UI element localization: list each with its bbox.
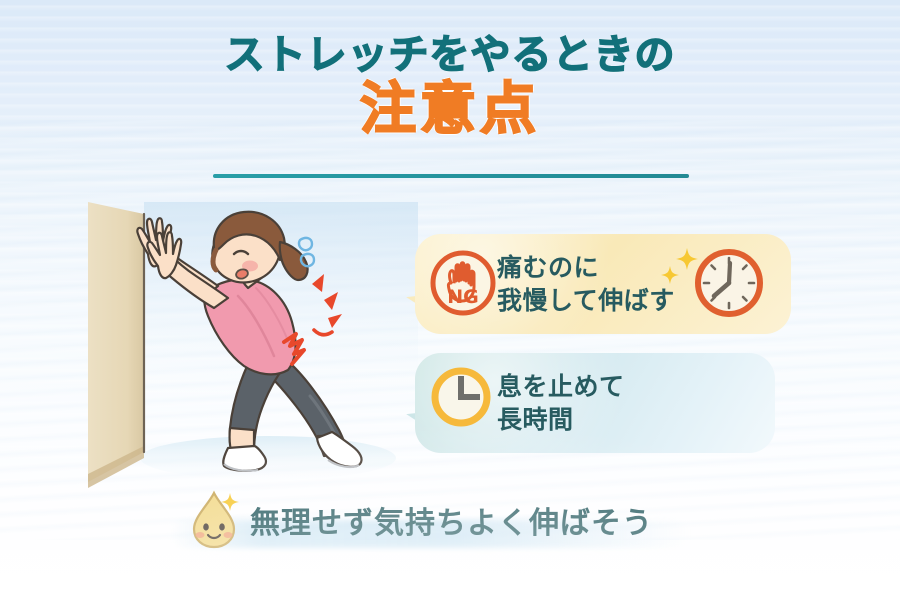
- title-line-2: 注意点: [0, 79, 900, 141]
- clock-icon: [430, 366, 492, 428]
- bubble-breath-line-1: 息を止めて: [497, 370, 625, 403]
- wall-shape: [88, 202, 144, 488]
- drop-eye-left: [203, 523, 209, 530]
- poster-canvas: ストレッチをやるときの 注意点: [0, 0, 900, 600]
- drop-eye-right: [219, 523, 225, 530]
- bubble-pain-line-1: 痛むのに: [497, 251, 675, 284]
- ng-label: NG: [447, 286, 479, 308]
- page-title: ストレッチをやるときの 注意点: [0, 34, 900, 141]
- title-line-1: ストレッチをやるときの: [0, 34, 900, 77]
- bubble-breath-text: 息を止めて 長時間: [497, 370, 625, 436]
- water-drop-mascot: [186, 489, 242, 551]
- footer-message: 無理せず気持ちよく伸ばそう: [186, 489, 653, 551]
- bubble-pain-text: 痛むのに 我慢して伸ばす: [497, 251, 675, 317]
- drop-blush-right: [224, 532, 233, 538]
- title-divider: [213, 174, 689, 178]
- stretch-illustration-svg: [88, 196, 418, 496]
- drop-blush-left: [196, 532, 205, 538]
- ng-hand-icon: NG: [429, 249, 497, 317]
- bubble-pain-line-2: 我慢して伸ばす: [497, 284, 675, 317]
- footer-text: 無理せず気持ちよく伸ばそう: [250, 498, 653, 542]
- stretch-illustration: [88, 196, 418, 496]
- bubble-breath-line-2: 長時間: [497, 403, 625, 436]
- clock-icon: [694, 248, 764, 318]
